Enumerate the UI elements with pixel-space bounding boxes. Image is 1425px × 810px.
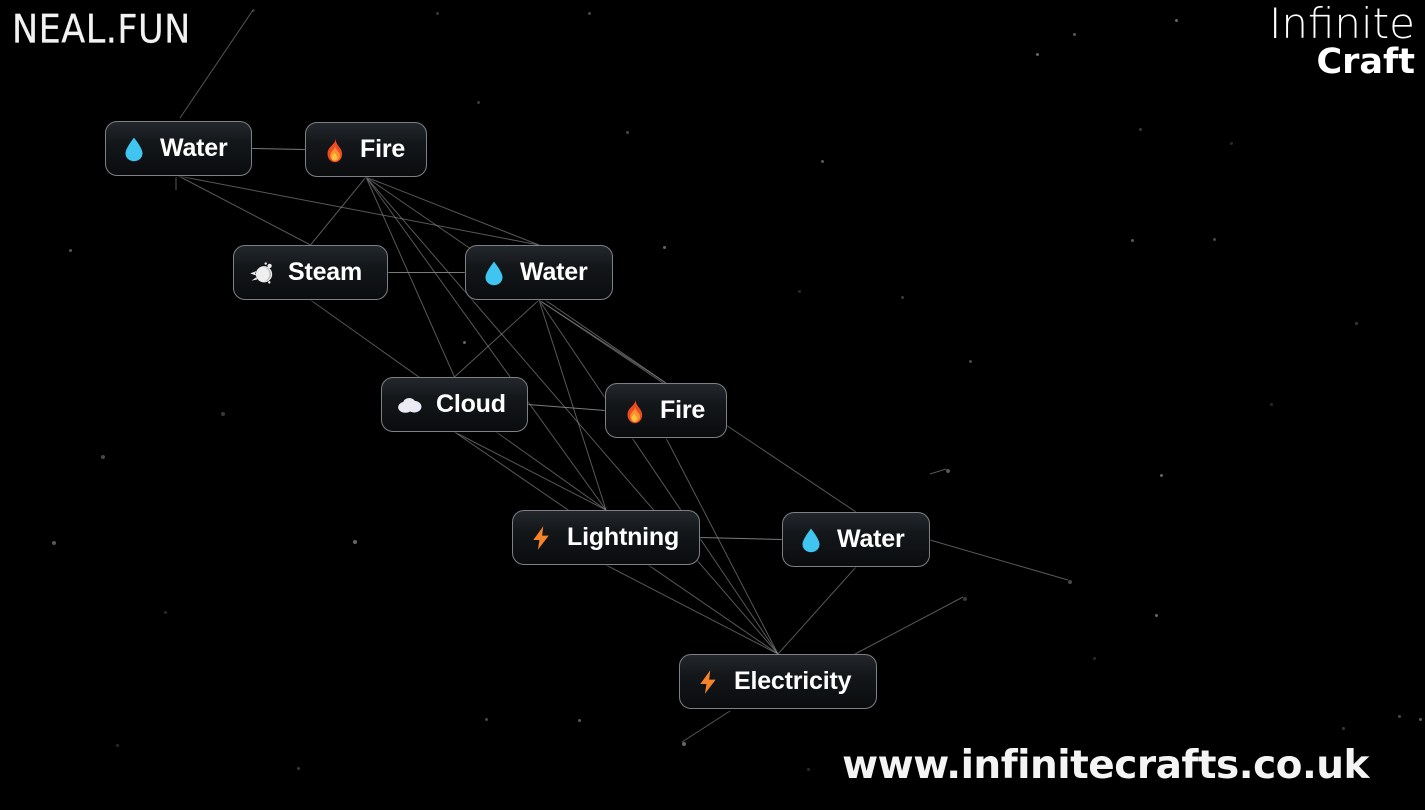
star-dot <box>353 540 357 544</box>
brand-title-top: Infinite <box>1269 4 1415 45</box>
link-line-diagonal <box>366 177 606 510</box>
star-dot <box>1073 33 1076 36</box>
water-droplet-icon <box>121 135 147 163</box>
link-line-horizontal <box>252 149 305 150</box>
infinite-craft-canvas[interactable]: WaterFireSteamWaterCloudFireLightningWat… <box>0 0 1425 810</box>
star-dot <box>821 160 824 163</box>
star-dot <box>52 541 56 545</box>
link-line-diagonal <box>455 432 607 510</box>
star-dot <box>436 12 439 15</box>
link-line-diagonal <box>366 177 539 245</box>
star-dot <box>1068 580 1072 584</box>
element-node-label: Fire <box>660 398 705 423</box>
star-dot <box>164 611 167 614</box>
star-dot <box>1175 19 1178 22</box>
lightning-bolt-icon <box>695 668 721 696</box>
link-line-diagonal <box>455 300 540 377</box>
star-dot <box>1155 614 1158 617</box>
link-line-stray <box>930 469 946 474</box>
star-dot <box>69 249 72 252</box>
link-line-horizontal <box>700 538 782 540</box>
link-line-diagonal <box>311 177 367 245</box>
star-dot <box>1398 715 1401 718</box>
element-node-label: Lightning <box>567 525 679 550</box>
element-node-label: Fire <box>360 137 405 162</box>
element-node-label: Water <box>520 260 588 285</box>
element-node-cloud-1[interactable]: Cloud <box>381 377 528 432</box>
star-dot <box>578 719 581 722</box>
star-dot <box>1139 128 1142 131</box>
element-node-water-1[interactable]: Water <box>105 121 252 176</box>
element-node-steam-1[interactable]: Steam <box>233 245 388 300</box>
link-line-diagonal <box>539 300 606 510</box>
star-dot <box>221 412 225 416</box>
element-node-fire-2[interactable]: Fire <box>605 383 727 438</box>
fire-flame-icon <box>321 136 347 164</box>
water-droplet-icon <box>798 526 824 554</box>
element-node-label: Electricity <box>734 669 851 694</box>
link-line-stray <box>855 597 963 654</box>
link-line-diagonal <box>606 565 778 654</box>
link-line-diagonal <box>778 567 856 654</box>
element-node-label: Steam <box>288 260 362 285</box>
link-line-stray <box>180 10 253 118</box>
fire-flame-icon <box>621 397 647 425</box>
element-node-water-3[interactable]: Water <box>782 512 930 567</box>
cloud-icon <box>397 391 423 419</box>
star-dot <box>963 597 967 601</box>
infinite-craft-title: Infinite Craft <box>1269 4 1415 80</box>
neal-fun-logo[interactable]: NEAL.FUN <box>12 8 191 53</box>
star-dot <box>297 767 300 770</box>
star-dot <box>798 290 801 293</box>
element-node-label: Cloud <box>436 392 506 417</box>
steam-puff-icon <box>249 259 275 287</box>
star-dot <box>485 718 488 721</box>
star-dot <box>1213 238 1216 241</box>
link-line-horizontal <box>528 405 605 411</box>
star-dot <box>463 341 466 344</box>
star-dot <box>101 455 105 459</box>
link-line-diagonal <box>539 300 666 383</box>
site-watermark: www.infinitecrafts.co.uk <box>842 743 1369 788</box>
element-node-lightning-1[interactable]: Lightning <box>512 510 700 565</box>
star-dot <box>1355 322 1358 325</box>
star-dot <box>477 101 480 104</box>
element-node-label: Water <box>837 527 905 552</box>
lightning-bolt-icon <box>528 524 554 552</box>
star-dot <box>1230 142 1233 145</box>
link-line-diagonal <box>179 176 540 245</box>
star-dot <box>1342 727 1345 730</box>
star-dot <box>901 296 904 299</box>
star-dot <box>1093 657 1096 660</box>
element-node-fire-1[interactable]: Fire <box>305 122 427 177</box>
star-dot <box>252 9 255 12</box>
star-dot <box>1131 239 1134 242</box>
element-node-electricity-1[interactable]: Electricity <box>679 654 877 709</box>
star-dot <box>1160 474 1163 477</box>
star-dot <box>1270 403 1273 406</box>
star-dot <box>807 768 810 771</box>
brand-title-bottom: Craft <box>1269 46 1415 80</box>
link-line-diagonal <box>539 300 778 654</box>
link-line-diagonal <box>179 176 311 245</box>
element-node-label: Water <box>160 136 228 161</box>
star-dot <box>588 12 591 15</box>
link-line-stray <box>930 540 1068 580</box>
star-dot <box>116 744 119 747</box>
star-dot <box>1419 718 1422 721</box>
star-dot <box>969 360 972 363</box>
star-dot <box>1036 53 1039 56</box>
link-line-stray <box>682 711 730 742</box>
element-node-water-2[interactable]: Water <box>465 245 613 300</box>
water-droplet-icon <box>481 259 507 287</box>
star-dot <box>946 469 950 473</box>
star-dot <box>663 246 666 249</box>
star-dot <box>626 131 629 134</box>
star-dot <box>682 742 686 746</box>
